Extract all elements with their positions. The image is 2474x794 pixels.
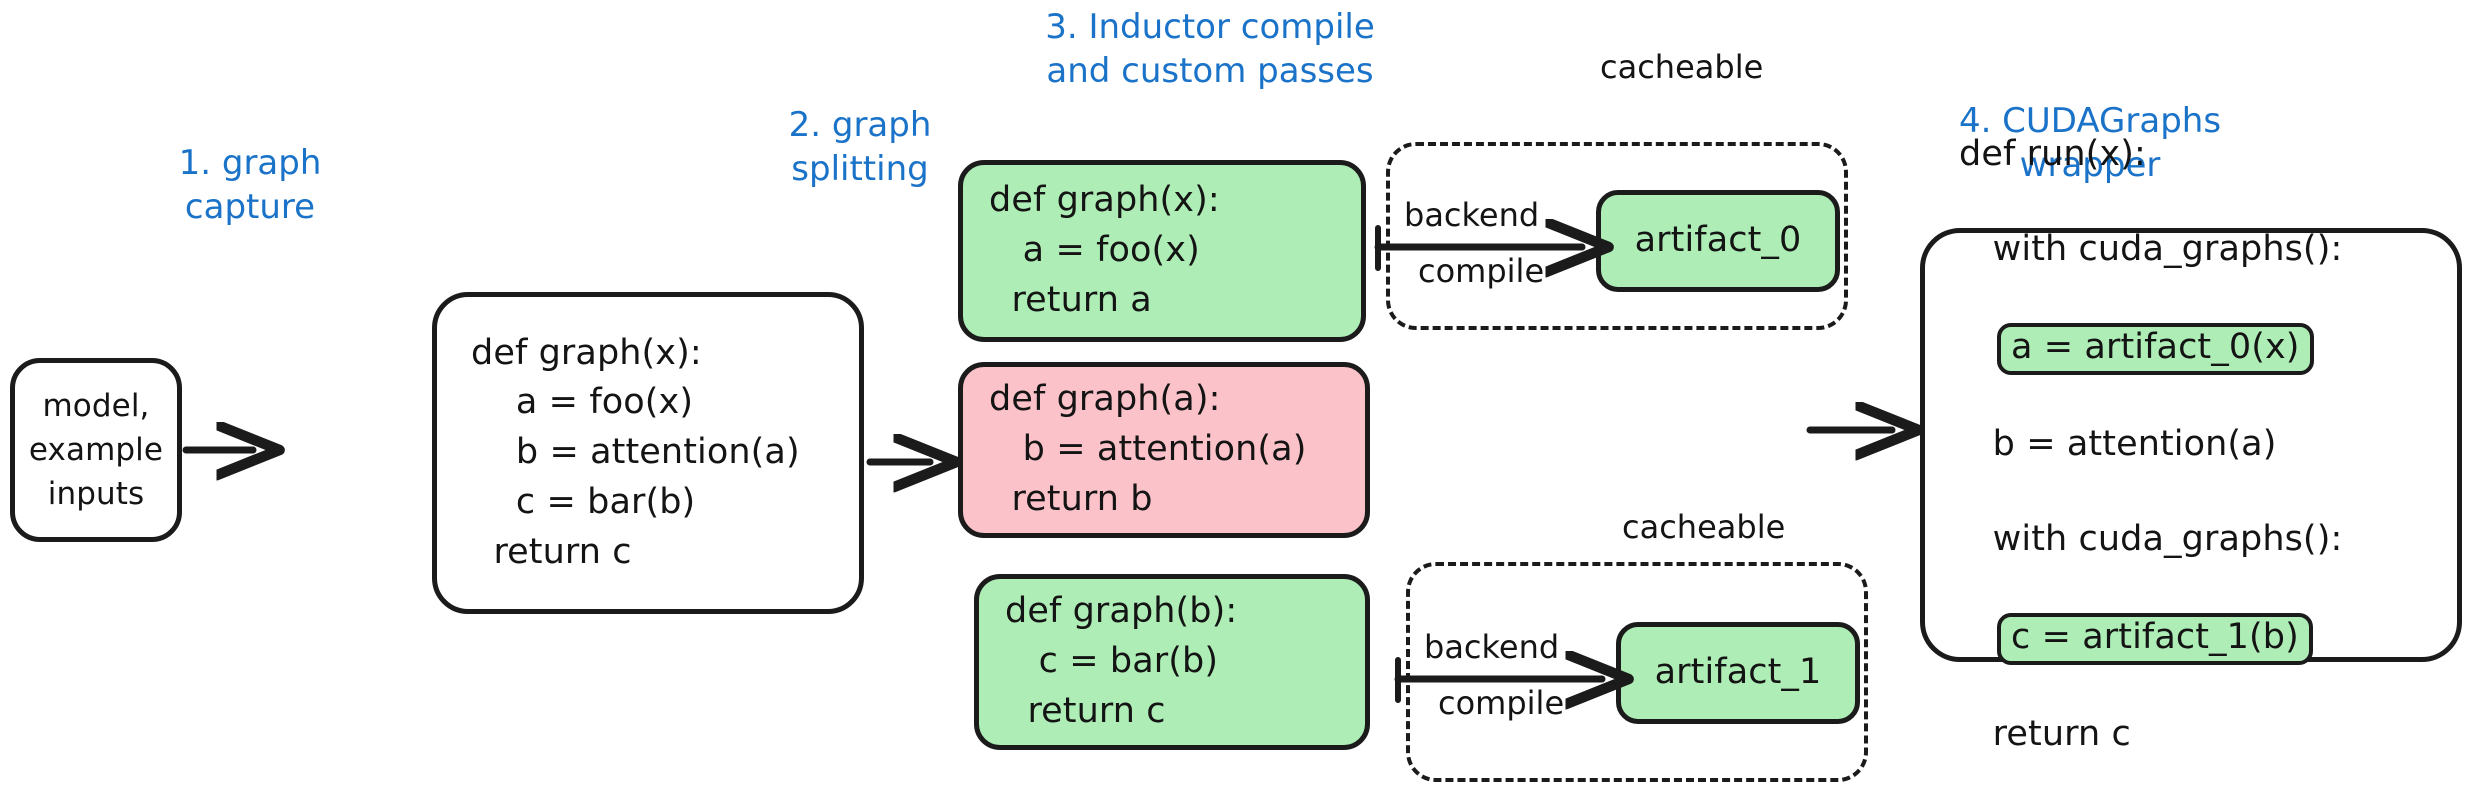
run-chip-artifact-0[interactable]: a = artifact_0(x) [1997, 323, 2314, 374]
run-line-return: return c [1959, 710, 2457, 760]
run-chip-artifact-1[interactable]: c = artifact_1(b) [1997, 613, 2313, 664]
annotation-step-2: 2. graph splitting [760, 104, 960, 191]
annotation-step-3: 3. Inductor compile and custom passes [860, 6, 1560, 93]
input-node-line-2: example [29, 428, 163, 472]
input-node[interactable]: model, example inputs [10, 358, 182, 542]
input-node-line-1: model, [43, 384, 150, 428]
run-line-attention: b = attention(a) [1959, 420, 2457, 470]
subgraph-node-foo[interactable]: def graph(x): a = foo(x) return a [958, 160, 1366, 342]
runtime-wrapper-node[interactable]: def run(x): with cuda_graphs(): a = arti… [1920, 228, 2462, 662]
backend-compile-top-0: backend [1404, 196, 1539, 234]
backend-compile-top-1: backend [1424, 628, 1559, 666]
captured-graph-node[interactable]: def graph(x): a = foo(x) b = attention(a… [432, 292, 864, 614]
subgraph-node-attention[interactable]: def graph(a): b = attention(a) return b [958, 362, 1370, 538]
subgraph-bar-code: def graph(b): c = bar(b) return c [979, 587, 1365, 736]
artifact-0-label: artifact_0 [1635, 216, 1802, 266]
subgraph-node-bar[interactable]: def graph(b): c = bar(b) return c [974, 574, 1370, 750]
artifact-node-0[interactable]: artifact_0 [1596, 190, 1840, 292]
artifact-node-1[interactable]: artifact_1 [1616, 622, 1860, 724]
input-node-line-3: inputs [48, 472, 145, 516]
cacheable-label-1: cacheable [1622, 508, 1785, 546]
run-chip-1-wrap: a = artifact_0(x) [1959, 320, 2457, 374]
run-line-with-2: with cuda_graphs(): [1959, 515, 2457, 565]
subgraph-attention-code: def graph(a): b = attention(a) return b [963, 375, 1365, 524]
subgraph-foo-code: def graph(x): a = foo(x) return a [963, 176, 1361, 325]
artifact-1-label: artifact_1 [1655, 648, 1822, 698]
backend-compile-bottom-1: compile [1438, 684, 1564, 722]
diagram-canvas: 1. graph capture 2. graph splitting 3. I… [0, 0, 2474, 794]
cacheable-label-0: cacheable [1600, 48, 1763, 86]
run-line-with-1: with cuda_graphs(): [1959, 225, 2457, 275]
annotation-step-1: 1. graph capture [150, 142, 350, 229]
run-chip-2-wrap: c = artifact_1(b) [1959, 610, 2457, 664]
run-line-def: def run(x): [1959, 130, 2457, 180]
captured-graph-code: def graph(x): a = foo(x) b = attention(a… [437, 329, 859, 577]
backend-compile-bottom-0: compile [1418, 252, 1544, 290]
